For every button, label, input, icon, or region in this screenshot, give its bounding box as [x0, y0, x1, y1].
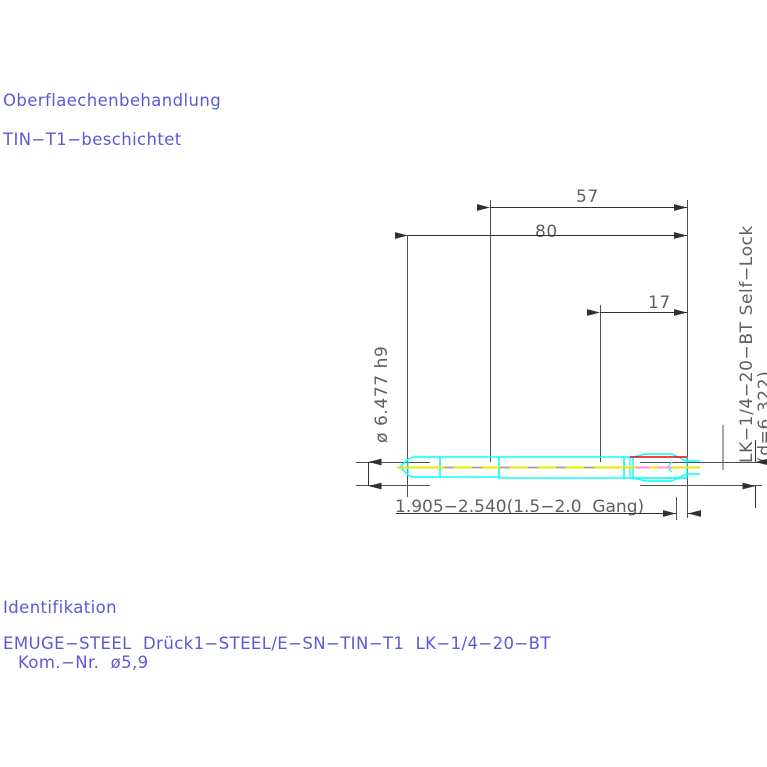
drawing-canvas: Oberflaechenbehandlung TIN−T1−beschichte…	[0, 0, 767, 767]
extension-lines	[356, 200, 762, 520]
technical-drawing-geometry	[0, 0, 767, 767]
dimension-line-core-diameter	[723, 425, 756, 508]
tool-profile	[397, 454, 700, 481]
